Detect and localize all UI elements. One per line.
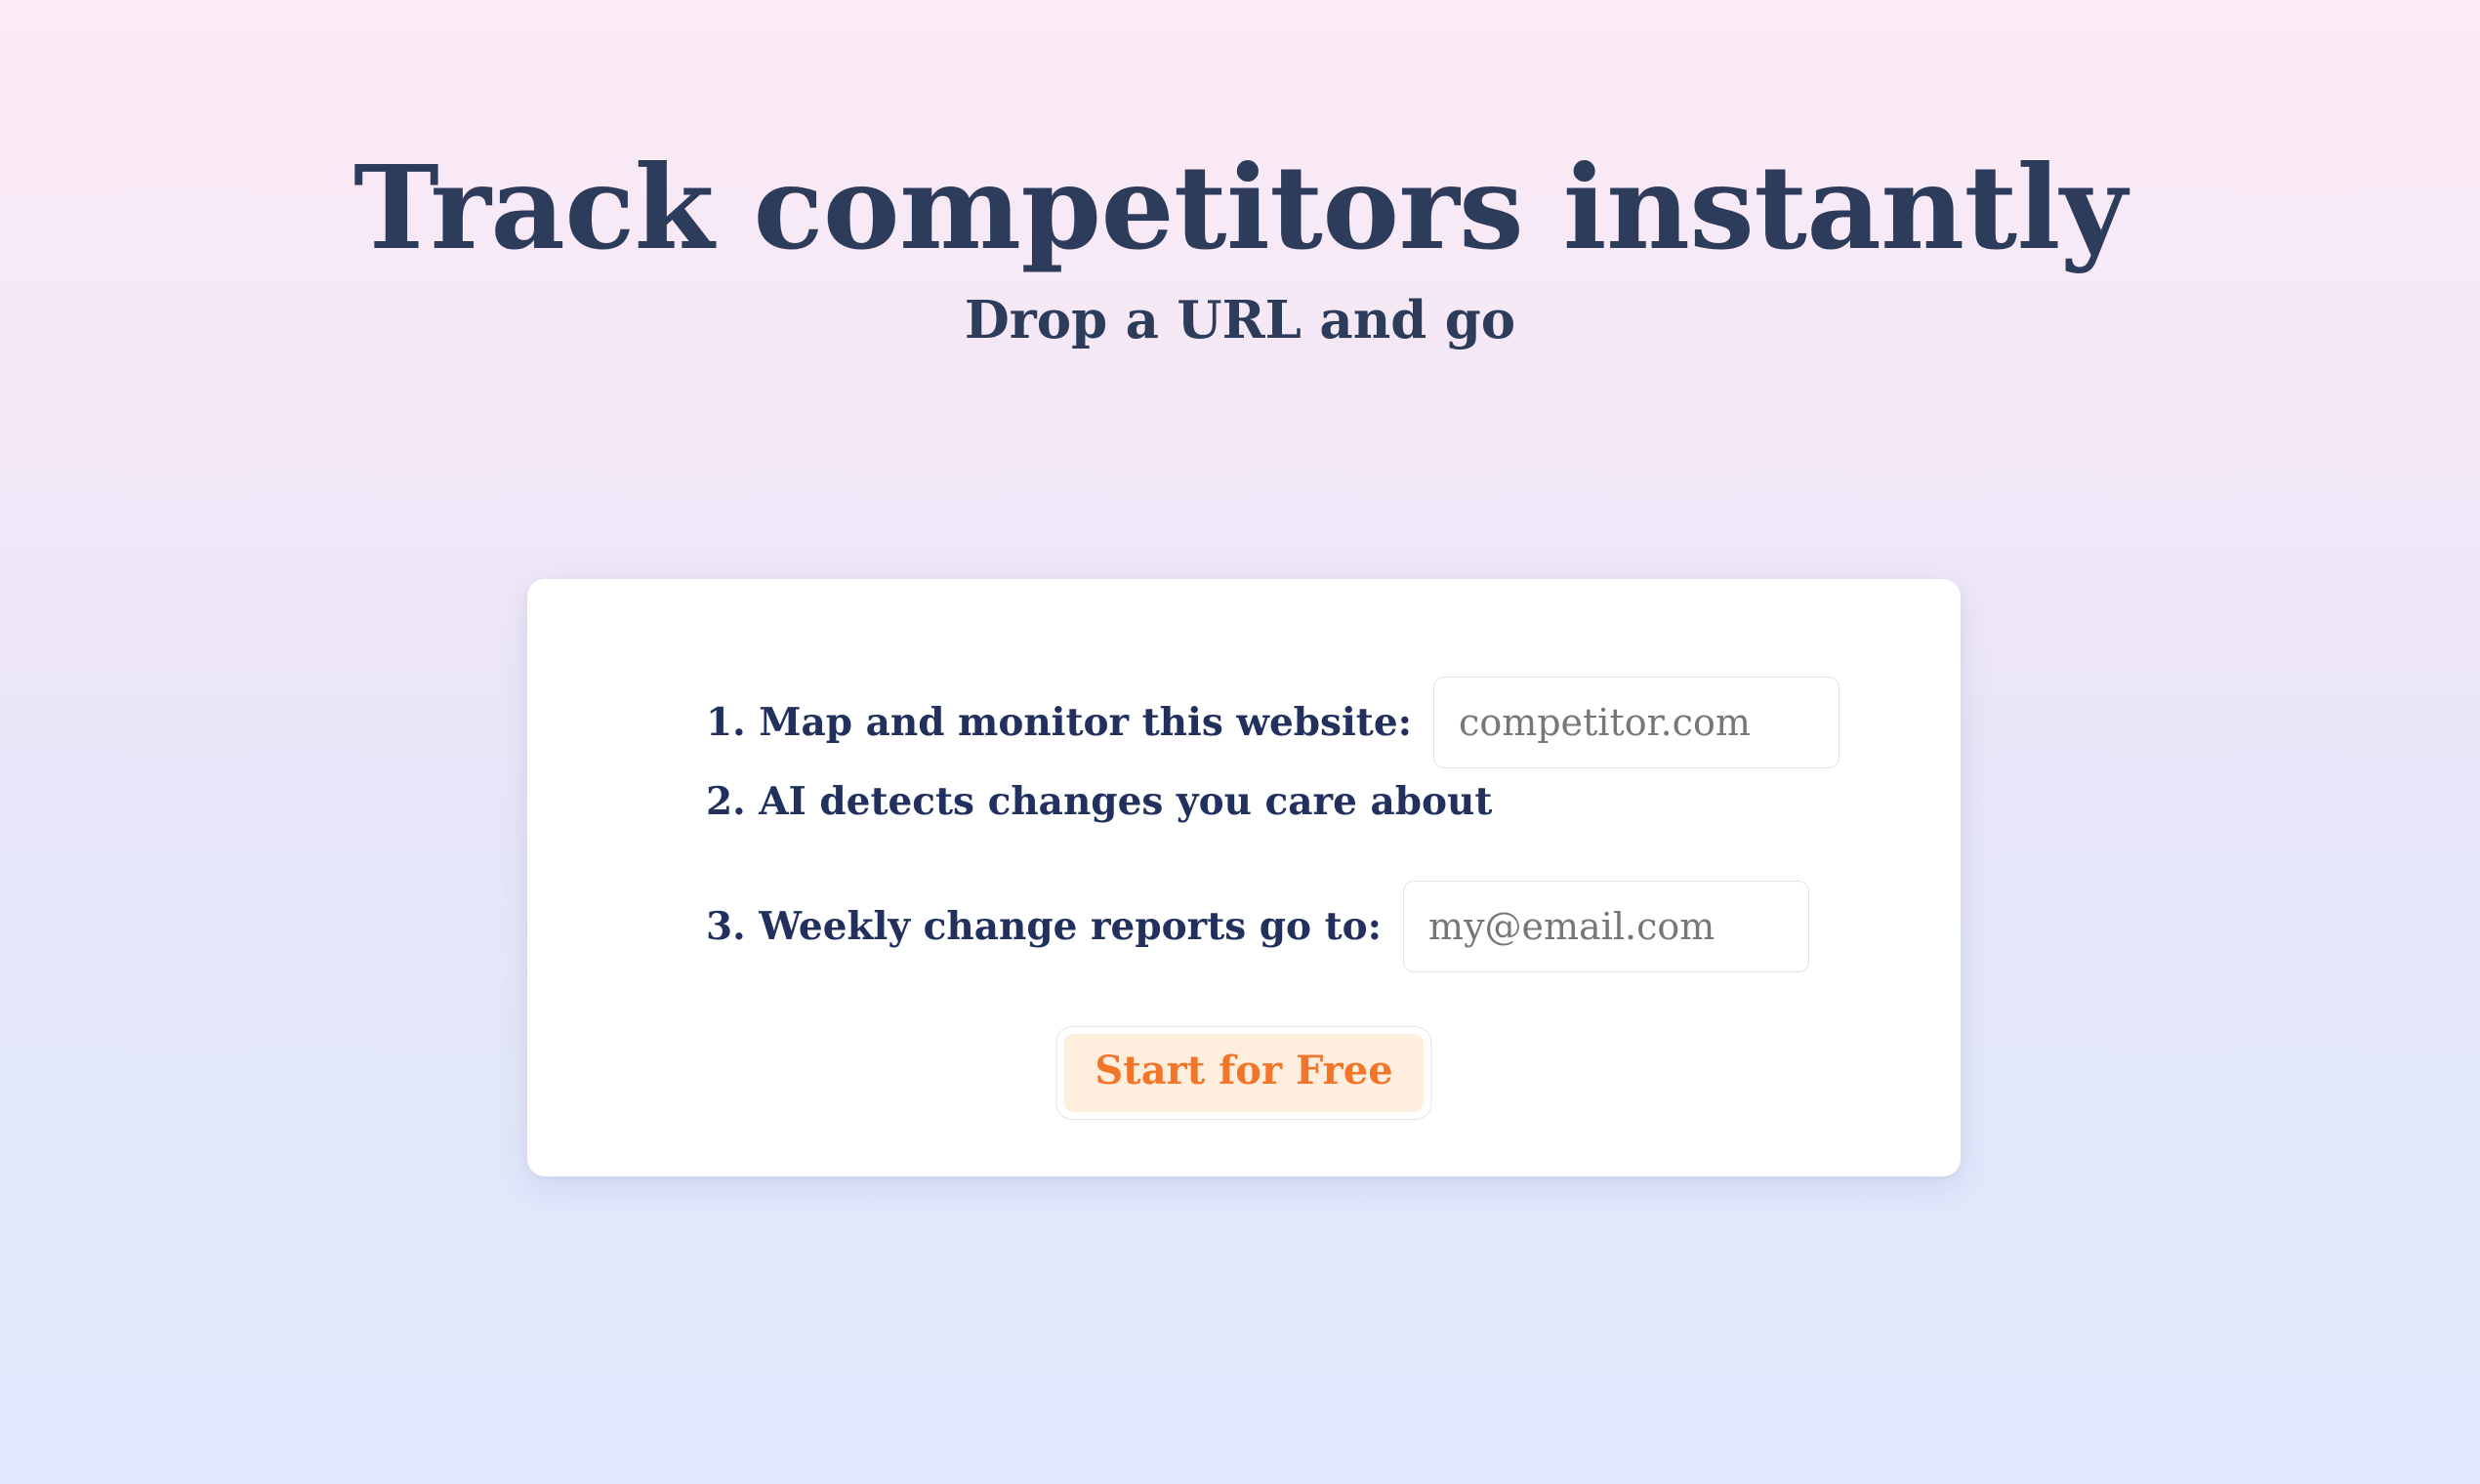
step-2-label: 2. AI detects changes you care about: [706, 783, 1492, 821]
step-row-2: 2. AI detects changes you care about: [706, 783, 1492, 821]
cta-button-wrapper: Start for Free: [1055, 1026, 1431, 1120]
website-url-input[interactable]: [1433, 677, 1839, 768]
step-row-1: 1. Map and monitor this website:: [706, 677, 1839, 768]
signup-card: 1. Map and monitor this website: 2. AI d…: [527, 579, 1961, 1176]
hero-section: Track competitors instantly Drop a URL a…: [0, 146, 2480, 352]
page-subtitle: Drop a URL and go: [0, 290, 2480, 352]
email-input[interactable]: [1403, 881, 1809, 972]
page-title: Track competitors instantly: [0, 146, 2480, 268]
landing-page: Track competitors instantly Drop a URL a…: [0, 0, 2480, 1484]
start-for-free-button[interactable]: Start for Free: [1063, 1034, 1424, 1112]
step-row-3: 3. Weekly change reports go to:: [706, 881, 1809, 972]
step-3-label: 3. Weekly change reports go to:: [706, 908, 1382, 946]
step-1-label: 1. Map and monitor this website:: [706, 704, 1412, 742]
signup-card-body: 1. Map and monitor this website: 2. AI d…: [527, 579, 1961, 1176]
